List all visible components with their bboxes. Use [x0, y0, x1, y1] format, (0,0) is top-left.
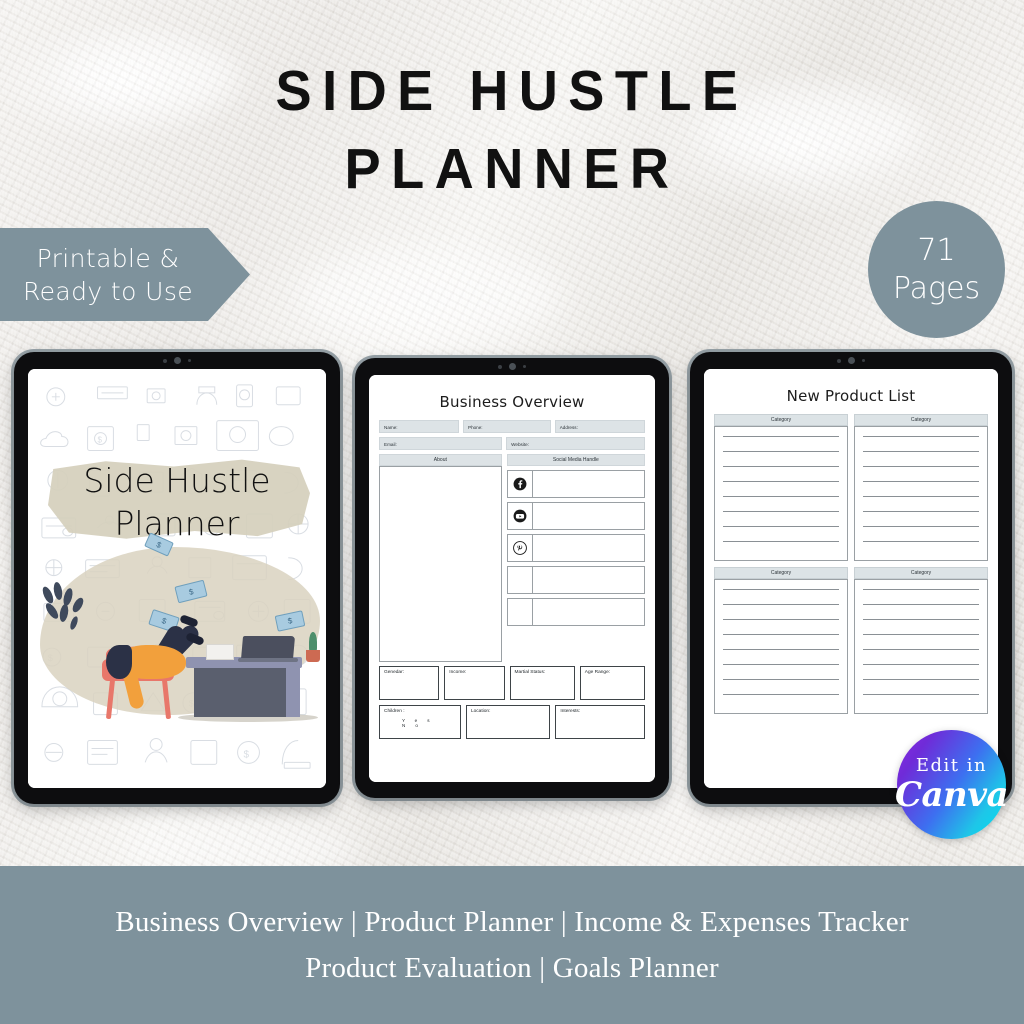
category-lines-area[interactable] — [714, 579, 848, 714]
category-block-4: Category — [854, 567, 988, 714]
svg-text:$: $ — [244, 749, 250, 760]
field-name[interactable]: Name: — [379, 420, 459, 433]
write-line — [863, 679, 979, 680]
social-column: Social Media Handle — [507, 454, 645, 662]
field-address[interactable]: Address: — [555, 420, 645, 433]
write-line — [723, 619, 839, 620]
write-line — [863, 649, 979, 650]
category-block-1: Category — [714, 414, 848, 561]
category-grid: Category Category — [714, 414, 988, 714]
laptop-base — [238, 658, 298, 662]
write-line — [863, 604, 979, 605]
footer-line-2: Product Evaluation | Goals Planner — [305, 945, 719, 991]
category-header: Category — [714, 567, 848, 579]
demographics-row-1: Genedar: Income: Martial Status: Age Ran… — [379, 666, 645, 700]
social-input-facebook[interactable] — [533, 471, 644, 497]
tablet-camera-bar — [14, 352, 340, 369]
business-overview-heading: Business Overview — [379, 393, 645, 411]
new-product-list-page: New Product List Category — [704, 369, 998, 788]
write-line — [723, 526, 839, 527]
category-header: Category — [854, 567, 988, 579]
cover-page: $ $ — [28, 369, 326, 788]
desk-side — [286, 668, 300, 717]
ribbon-line-2: Ready to Use — [23, 275, 193, 308]
field-martial-status[interactable]: Martial Status: — [510, 666, 575, 700]
field-children-label: Children : — [384, 709, 405, 714]
write-line — [723, 496, 839, 497]
foliage-decoration-icon — [38, 581, 96, 637]
category-lines-area[interactable] — [714, 426, 848, 561]
sensor-dot-icon — [862, 359, 865, 362]
write-line — [863, 664, 979, 665]
field-phone[interactable]: Phone: — [463, 420, 551, 433]
business-overview-page: Business Overview Name: Phone: Address: … — [369, 375, 655, 782]
contact-row-1: Name: Phone: Address: — [379, 420, 645, 433]
title-line-1: SIDE HUSTLE — [26, 52, 999, 130]
pages-count-label: Pages — [893, 270, 980, 308]
tablet-camera-bar — [355, 358, 669, 375]
ribbon-line-1: Printable & — [37, 242, 180, 275]
write-line — [863, 541, 979, 542]
title-line-2: PLANNER — [26, 130, 999, 208]
cover-title-line-1: Side Hustle — [28, 459, 326, 502]
social-media-header: Social Media Handle — [507, 454, 645, 466]
write-line — [863, 481, 979, 482]
camera-dot-icon — [163, 359, 167, 363]
field-website[interactable]: Website: — [506, 437, 645, 450]
write-line — [863, 496, 979, 497]
social-row-facebook — [507, 470, 645, 498]
sensor-dot-icon — [523, 365, 526, 368]
category-lines-area[interactable] — [854, 426, 988, 561]
write-line — [723, 451, 839, 452]
write-line — [723, 664, 839, 665]
camera-lens-icon — [509, 363, 516, 370]
write-line — [863, 589, 979, 590]
field-age-range[interactable]: Age Range: — [580, 666, 645, 700]
laptop-screen-icon — [241, 636, 295, 660]
write-line — [863, 466, 979, 467]
edit-in-canva-badge[interactable]: Edit in Canva — [897, 730, 1006, 839]
social-row-pinterest — [507, 534, 645, 562]
page-title: SIDE HUSTLE PLANNER — [0, 52, 1024, 208]
write-line — [723, 466, 839, 467]
sensor-dot-icon — [188, 359, 191, 362]
field-gender[interactable]: Genedar: — [379, 666, 439, 700]
camera-dot-icon — [498, 365, 502, 369]
plant-pot-icon — [306, 650, 320, 662]
category-block-3: Category — [714, 567, 848, 714]
about-column: About — [379, 454, 502, 662]
about-header: About — [379, 454, 502, 466]
paper-stack — [206, 644, 234, 660]
new-product-list-heading: New Product List — [714, 387, 988, 405]
write-line — [863, 511, 979, 512]
category-lines-area[interactable] — [854, 579, 988, 714]
social-row-youtube — [507, 502, 645, 530]
tablet-camera-bar — [690, 352, 1012, 369]
write-line — [723, 634, 839, 635]
field-interests[interactable]: Interests: — [555, 705, 645, 739]
tablet-screen-business-overview: Business Overview Name: Phone: Address: … — [369, 375, 655, 782]
category-header: Category — [714, 414, 848, 426]
footer-line-1: Business Overview | Product Planner | In… — [115, 899, 908, 945]
field-income[interactable]: Income: — [444, 666, 504, 700]
demographics-row-2: Children : Yes No Location: Interests: — [379, 705, 645, 739]
write-line — [863, 451, 979, 452]
printable-ribbon: Printable & Ready to Use — [0, 228, 250, 321]
contact-row-2: Email: Website: — [379, 437, 645, 450]
category-block-2: Category — [854, 414, 988, 561]
write-line — [863, 634, 979, 635]
social-icon-placeholder — [508, 567, 533, 593]
camera-lens-icon — [848, 357, 855, 364]
tablet-screen-cover: $ $ — [28, 369, 326, 788]
social-row-blank-2 — [507, 598, 645, 626]
write-line — [723, 589, 839, 590]
desk-body — [194, 668, 294, 717]
facebook-icon — [508, 471, 533, 497]
about-social-section: About Social Media Handle — [379, 454, 645, 662]
category-header: Category — [854, 414, 988, 426]
write-line — [723, 541, 839, 542]
write-line — [863, 619, 979, 620]
footer-feature-bar: Business Overview | Product Planner | In… — [0, 866, 1024, 1024]
write-line — [863, 436, 979, 437]
write-line — [723, 604, 839, 605]
children-yes-no-options[interactable]: Yes No — [402, 718, 460, 728]
write-line — [723, 694, 839, 695]
plant-leaf-icon — [309, 632, 317, 652]
field-email[interactable]: Email: — [379, 437, 502, 450]
svg-text:$: $ — [98, 436, 103, 445]
canva-brand-label: Canva — [895, 777, 1008, 813]
social-input-blank-2[interactable] — [533, 599, 644, 625]
social-input-blank-1[interactable] — [533, 567, 644, 593]
tablet-mockup-cover: $ $ — [14, 352, 340, 804]
social-row-blank-1 — [507, 566, 645, 594]
write-line — [723, 511, 839, 512]
canva-edit-label: Edit in — [916, 756, 987, 776]
cover-title: Side Hustle Planner — [28, 459, 326, 545]
write-line — [863, 694, 979, 695]
tablet-mockup-business-overview: Business Overview Name: Phone: Address: … — [355, 358, 669, 798]
camera-lens-icon — [174, 357, 181, 364]
field-children[interactable]: Children : Yes No — [379, 705, 461, 739]
social-icon-placeholder — [508, 599, 533, 625]
write-line — [723, 481, 839, 482]
youtube-icon — [508, 503, 533, 529]
cover-title-line-2: Planner — [28, 502, 326, 545]
write-line — [723, 679, 839, 680]
pages-count-badge: 71 Pages — [868, 201, 1005, 338]
write-line — [723, 649, 839, 650]
about-textarea[interactable] — [379, 466, 502, 662]
pages-count-number: 71 — [917, 232, 955, 270]
pinterest-icon — [508, 535, 533, 561]
camera-dot-icon — [837, 359, 841, 363]
social-input-youtube[interactable] — [533, 503, 644, 529]
person-hair — [106, 645, 132, 679]
field-location[interactable]: Location: — [466, 705, 550, 739]
write-line — [863, 526, 979, 527]
tablet-screen-new-product-list: New Product List Category — [704, 369, 998, 788]
write-line — [723, 436, 839, 437]
social-input-pinterest[interactable] — [533, 535, 644, 561]
